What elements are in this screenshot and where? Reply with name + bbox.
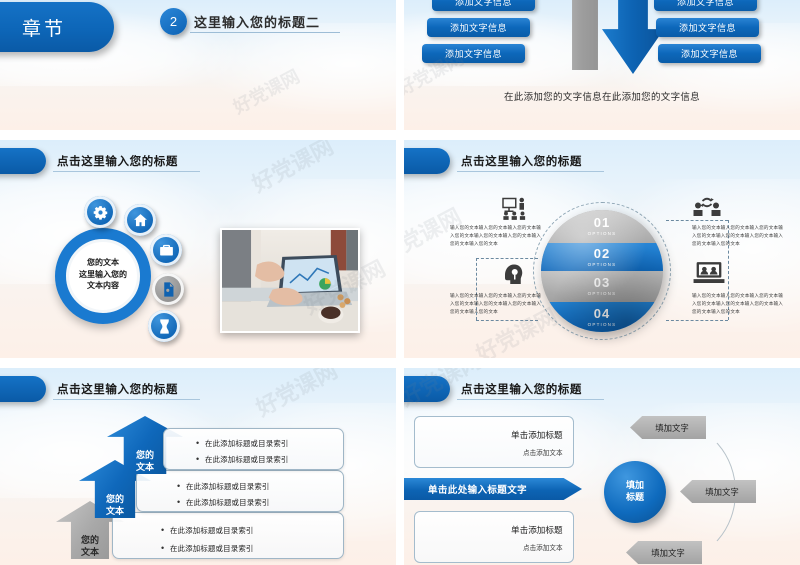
center-line-3: 文本内容 <box>62 280 144 292</box>
arrow-up-gray-icon <box>558 0 612 70</box>
head-idea-icon <box>502 262 526 288</box>
left-box-1[interactable]: 单击添加标题 点击添加文本 <box>414 416 574 468</box>
slide-3-title: 点击这里输入您的标题 <box>57 153 178 169</box>
section-title: 这里输入您的标题二 <box>194 12 320 31</box>
slide-2-footer-text: 在此添加您的文字信息在此添加您的文字信息 <box>404 89 800 103</box>
text-block-top-left: 输入您的文本输入您的文本输入您的文本输入您的文本输入您的文本输入您的文本输入您的… <box>450 224 542 248</box>
center-line-2: 这里输入您的 <box>62 269 144 281</box>
title-underline <box>457 171 604 172</box>
home-icon[interactable] <box>124 204 156 236</box>
center-ring-text: 您的文本 这里输入您的 文本内容 <box>62 257 144 292</box>
briefcase-icon[interactable] <box>150 234 182 266</box>
text-block-bottom-right: 输入您的文本输入您的文本输入您的文本输入您的文本输入您的文本输入您的文本输入您的… <box>692 292 784 316</box>
section-number-badge: 2 <box>160 8 187 35</box>
people-exchange-icon <box>692 195 722 219</box>
text-line: 输入您的文本输入您的文本输入您的文本输入您的文本输入您的文本输入您的文本输入您的… <box>450 224 542 248</box>
gears-icon[interactable] <box>84 196 116 228</box>
slide-1-section-divider[interactable]: 章节 2 这里输入您的标题二 好党课网 <box>0 0 396 130</box>
text-line: 输入您的文本输入您的文本输入您的文本输入您的文本输入您的文本输入您的文本输入您的… <box>692 292 784 316</box>
arrow-down-blue-icon <box>602 0 664 74</box>
section-title-underline <box>190 32 340 33</box>
slide-3-icon-cluster[interactable]: 点击这里输入您的标题 您的文本 这里输入您的 文本内容 <box>0 140 396 358</box>
hub-label: 填加标题 <box>626 480 644 503</box>
chip-right-1[interactable]: 添加文字信息 <box>654 0 757 11</box>
hub-circle[interactable]: 填加标题 <box>604 461 666 523</box>
hub-line-1: 填加 <box>626 480 644 490</box>
step-arrow-1-label: 您的文本 <box>136 441 154 465</box>
video-conference-icon <box>692 260 726 286</box>
sphere-chart: 01 OPTIONS 02 OPTIONS 03 OPTIONS 04 OPTI… <box>541 210 663 332</box>
tag-arrow-1[interactable]: 填加文字 <box>630 416 706 439</box>
tag-arrow-1-label: 填加文字 <box>647 422 689 434</box>
bullet-1-1: 在此添加标题或目录索引 <box>194 440 289 447</box>
tag-arrow-3-label: 填加文字 <box>643 547 685 559</box>
title-pill <box>0 376 46 402</box>
left-box-2[interactable]: 单击添加标题 点击添加文本 <box>414 511 574 563</box>
slide-thumbnail-grid: 章节 2 这里输入您的标题二 好党课网 添加文字信息 添加文字信息 添加文字信息… <box>0 0 800 565</box>
connector-left-bottom <box>476 320 538 321</box>
text-line: 输入您的文本输入您的文本输入您的文本输入您的文本输入您的文本输入您的文本输入您的… <box>692 224 784 248</box>
presentation-training-icon <box>500 197 530 221</box>
center-line-1: 您的文本 <box>62 257 144 269</box>
arrow-line-1: 您的 <box>106 494 124 504</box>
bullet-3-2: 在此添加标题或目录索引 <box>159 545 254 552</box>
slide-5-title: 点击这里输入您的标题 <box>57 381 178 397</box>
bullet-2-1: 在此添加标题或目录索引 <box>175 483 270 490</box>
arrow-line-1: 您的 <box>81 535 99 545</box>
slide-2-arrow-diagram[interactable]: 添加文字信息 添加文字信息 添加文字信息 添加文字信息 添加文字信息 添加文字信… <box>404 0 800 130</box>
slide-4-sphere-diagram[interactable]: 点击这里输入您的标题 01 OPTIONS 02 OPTIONS 03 OPTI… <box>404 140 800 358</box>
title-underline <box>53 171 200 172</box>
slide-6-hub-diagram[interactable]: 点击这里输入您的标题 单击添加标题 点击添加文本 单击添加标题 点击添加文本 单… <box>404 368 800 565</box>
chip-left-2[interactable]: 添加文字信息 <box>427 18 530 37</box>
bullet-box-1[interactable]: 在此添加标题或目录索引 在此添加标题或目录索引 <box>163 428 344 470</box>
chip-right-3[interactable]: 添加文字信息 <box>658 44 761 63</box>
left-box-1-sub: 点击添加文本 <box>523 447 563 457</box>
slide-4-title: 点击这里输入您的标题 <box>461 153 582 169</box>
slide-6-title: 点击这里输入您的标题 <box>461 381 582 397</box>
bullet-2-2: 在此添加标题或目录索引 <box>175 499 270 506</box>
section-tab-label: 章节 <box>22 14 66 41</box>
bullet-1-2: 在此添加标题或目录索引 <box>194 456 289 463</box>
step-arrow-3-label: 您的文本 <box>81 526 99 550</box>
hub-line-2: 标题 <box>626 492 644 502</box>
chip-left-3[interactable]: 添加文字信息 <box>422 44 525 63</box>
left-box-2-heading: 单击添加标题 <box>511 524 563 536</box>
text-line: 输入您的文本输入您的文本输入您的文本输入您的文本输入您的文本输入您的文本输入您的… <box>450 292 542 316</box>
title-underline <box>457 399 604 400</box>
step-arrow-2-label: 您的文本 <box>106 485 124 509</box>
connector-right-top <box>666 220 728 221</box>
section-tab: 章节 <box>0 2 114 52</box>
connector-left-top <box>476 258 538 259</box>
title-pill <box>0 148 46 174</box>
arrow-line-2: 文本 <box>136 462 154 472</box>
left-box-2-sub: 点击添加文本 <box>523 542 563 552</box>
laptop-photo <box>220 228 360 333</box>
connector-right-bottom <box>666 320 728 321</box>
tag-arrow-2[interactable]: 填加文字 <box>680 480 756 503</box>
bullet-box-3[interactable]: 在此添加标题或目录索引 在此添加标题或目录索引 <box>112 512 344 559</box>
title-underline <box>53 399 200 400</box>
chip-right-2[interactable]: 添加文字信息 <box>656 18 759 37</box>
center-banner[interactable]: 单击此处输入标题文字 <box>404 478 582 500</box>
arrow-line-1: 您的 <box>136 450 154 460</box>
chip-left-1[interactable]: 添加文字信息 <box>432 0 535 11</box>
text-block-top-right: 输入您的文本输入您的文本输入您的文本输入您的文本输入您的文本输入您的文本输入您的… <box>692 224 784 248</box>
bullet-3-1: 在此添加标题或目录索引 <box>159 527 254 534</box>
arrow-line-2: 文本 <box>106 506 124 516</box>
text-block-bottom-left: 输入您的文本输入您的文本输入您的文本输入您的文本输入您的文本输入您的文本输入您的… <box>450 292 542 316</box>
center-banner-label: 单击此处输入标题文字 <box>404 482 527 496</box>
sphere-gloss <box>541 210 663 332</box>
hourglass-icon[interactable] <box>148 310 180 342</box>
document-person-icon[interactable] <box>152 273 184 305</box>
title-pill <box>404 376 450 402</box>
left-box-1-heading: 单击添加标题 <box>511 429 563 441</box>
tag-arrow-2-label: 填加文字 <box>697 486 739 498</box>
title-pill <box>404 148 450 174</box>
arrow-line-2: 文本 <box>81 547 99 557</box>
bullet-box-2[interactable]: 在此添加标题或目录索引 在此添加标题或目录索引 <box>136 470 344 512</box>
slide-5-stacked-arrows[interactable]: 点击这里输入您的标题 您的文本 在此添加标题或目录索引 在此添加标题或目录索引 … <box>0 368 396 565</box>
tag-arrow-3[interactable]: 填加文字 <box>626 541 702 564</box>
